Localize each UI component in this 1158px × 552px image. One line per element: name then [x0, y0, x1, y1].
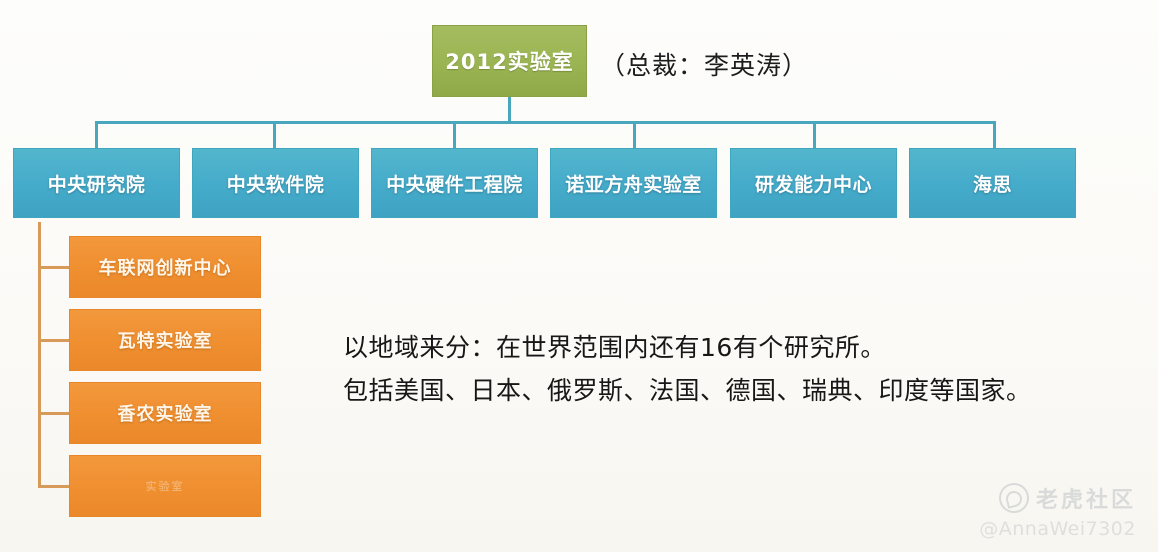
connector-drop-1	[95, 121, 98, 149]
node-subunit-watt-lab[interactable]: 瓦特实验室	[69, 309, 261, 371]
notes-line-2: 包括美国、日本、俄罗斯、法国、德国、瑞典、印度等国家。	[343, 369, 1032, 412]
connector-subunit-branch-4	[38, 485, 70, 488]
node-division-rnd-capability-center[interactable]: 研发能力中心	[730, 148, 897, 218]
node-subunit-label: 实验室	[146, 478, 185, 494]
node-root-label: 2012实验室	[445, 46, 573, 76]
watermark: 老虎社区 @AnnaWei7302	[979, 482, 1136, 540]
node-division-central-hardware-engineering-institute[interactable]: 中央硬件工程院	[371, 148, 538, 218]
connector-drop-4	[633, 121, 636, 149]
connector-horizontal-bus	[96, 121, 996, 124]
connector-drop-6	[993, 121, 996, 149]
node-division-hisilicon[interactable]: 海思	[909, 148, 1076, 218]
node-division-label: 中央硬件工程院	[386, 170, 523, 197]
root-president-note: （总裁：李英涛）	[600, 46, 808, 82]
node-root-2012-lab[interactable]: 2012实验室	[432, 25, 587, 97]
node-division-label: 研发能力中心	[755, 170, 872, 197]
connector-drop-2	[273, 121, 276, 149]
node-division-label: 中央研究院	[48, 170, 146, 197]
node-subunit-shannon-lab[interactable]: 香农实验室	[69, 382, 261, 444]
connector-drop-5	[813, 121, 816, 149]
node-division-label: 海思	[973, 170, 1012, 197]
tiger-paw-icon	[999, 483, 1029, 513]
notes-paragraph: 以地域来分：在世界范围内还有16有个研究所。 包括美国、日本、俄罗斯、法国、德国…	[343, 326, 1032, 412]
node-division-label: 中央软件院	[227, 170, 325, 197]
connector-subunit-branch-1	[38, 266, 70, 269]
node-division-noahs-ark-lab[interactable]: 诺亚方舟实验室	[550, 148, 717, 218]
node-subunit-label: 车联网创新中心	[99, 254, 232, 280]
watermark-handle: @AnnaWei7302	[979, 518, 1136, 540]
node-division-label: 诺亚方舟实验室	[565, 170, 702, 197]
node-subunit-additional-lab[interactable]: 实验室	[69, 455, 261, 517]
connector-subunit-spine	[38, 222, 41, 487]
connector-subunit-branch-3	[38, 412, 70, 415]
node-subunit-label: 香农实验室	[118, 400, 213, 426]
node-subunit-connected-vehicle-innovation-center[interactable]: 车联网创新中心	[69, 236, 261, 298]
notes-line-1: 以地域来分：在世界范围内还有16有个研究所。	[343, 326, 1032, 369]
node-division-central-research-institute[interactable]: 中央研究院	[13, 148, 180, 218]
node-division-central-software-institute[interactable]: 中央软件院	[192, 148, 359, 218]
watermark-brand-label: 老虎社区	[1036, 482, 1136, 514]
connector-subunit-branch-2	[38, 339, 70, 342]
watermark-brand-row: 老虎社区	[979, 482, 1136, 514]
node-subunit-label: 瓦特实验室	[118, 327, 213, 353]
connector-root-stem	[508, 97, 511, 123]
org-chart-canvas: 2012实验室 （总裁：李英涛） 中央研究院 中央软件院 中央硬件工程院 诺亚方…	[0, 0, 1158, 552]
connector-drop-3	[453, 121, 456, 149]
